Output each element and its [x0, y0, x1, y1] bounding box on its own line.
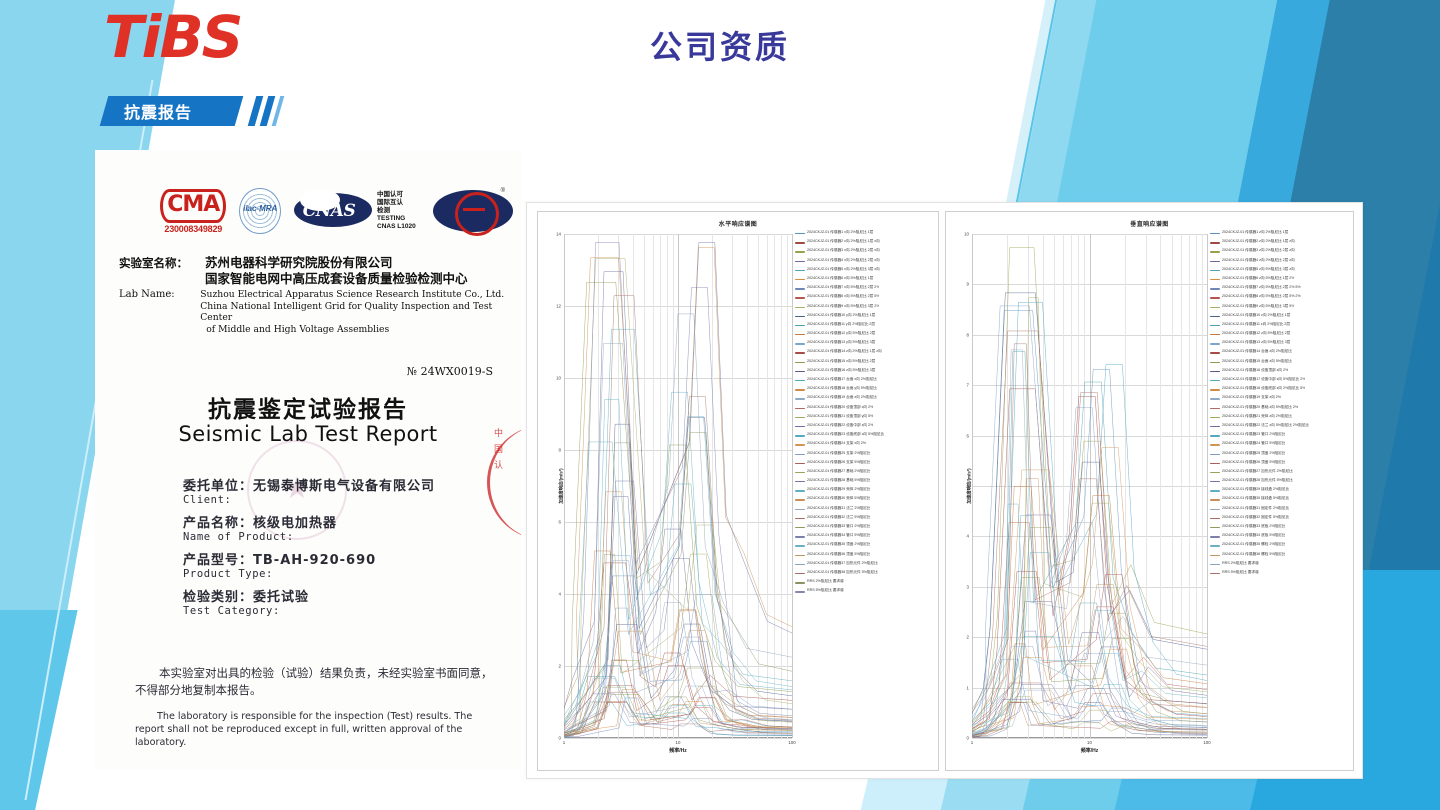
cnas-info-text: 中国认可 国际互认 检测 TESTING CNAS L1020 — [377, 191, 420, 231]
legend-item: 2024CKJZ-01 传感器21 壳体 z向 2%阻尼比 — [1210, 414, 1350, 423]
y-axis-tick: 0 — [559, 736, 561, 741]
field-test-category: 检验类别：委托试验 Test Category: — [183, 586, 503, 617]
response-spectrum-card: 水平响应谱图 02468101214110100 频率/Hz 加速度响应/(m/… — [526, 202, 1363, 779]
legend-item: 2024CKJZ-01 传感器13 z向 5%阻尼比 3层 — [1210, 340, 1350, 349]
y-axis-tick: 6 — [967, 433, 969, 438]
legend-item: RRS 5%阻尼比 要求谱 — [795, 588, 935, 597]
legend-label: 2024CKJZ-01 传感器35 顶盖 2%阻尼比 — [807, 542, 870, 546]
section-tag-label: 抗震报告 — [124, 99, 192, 123]
y-axis-label-horizontal: 加速度响应/(m/s²) — [559, 468, 565, 503]
legend-swatch-icon — [795, 518, 805, 519]
legend-item: 2024CKJZ-01 传感器10 y向 2%阻尼比 1层 — [795, 313, 935, 322]
legend-swatch-icon — [1210, 334, 1220, 335]
lab-name-cn-line-1: 苏州电器科学研究院股份有限公司 — [205, 255, 468, 271]
ilac-label: ilac-MRA — [240, 204, 280, 213]
y-axis-tick: 14 — [556, 232, 561, 237]
legend-swatch-icon — [795, 343, 805, 344]
legend-label: 2024CKJZ-01 传感器20 设备顶部 x向 2% — [807, 405, 873, 409]
legend-label: 2024CKJZ-01 传感器6 z向 5%阻尼比 1层 2% — [1222, 276, 1294, 280]
legend-swatch-icon — [795, 417, 805, 418]
legend-label: 2024CKJZ-01 传感器27 基础 2%阻尼比 — [807, 469, 870, 473]
legend-item: 2024CKJZ-01 传感器1 z向 2%阻尼比 1层 — [1210, 230, 1350, 239]
legend-label: 2024CKJZ-01 传感器23 设备底部 x向 5%阻尼比 — [807, 432, 884, 436]
legend-label: RRS 2%阻尼比 要求谱 — [1222, 561, 1259, 565]
legend-label: 2024CKJZ-01 传感器35 螺栓 2%阻尼比 — [1222, 542, 1285, 546]
legend-item: 2024CKJZ-01 传感器27 基础 2%阻尼比 — [795, 469, 935, 478]
y-axis-tick: 4 — [967, 534, 969, 539]
cma-icon: CMA 230008349829 — [160, 189, 226, 234]
legend-label: RRS 5%阻尼比 要求谱 — [1222, 570, 1259, 574]
legend-item: 2024CKJZ-01 传感器4 z向 2%阻尼比 2层 z向 — [1210, 258, 1350, 267]
x-axis-tick: 1 — [971, 740, 973, 745]
field-client-value: 无锡泰博斯电气设备有限公司 — [253, 479, 435, 494]
legend-label: 2024CKJZ-01 传感器30 壳体 5%阻尼比 — [807, 496, 870, 500]
legend-label: 2024CKJZ-01 传感器31 固定件 2%阻尼比 — [1222, 506, 1289, 510]
ilac-mra-icon: ilac-MRA — [239, 188, 281, 234]
legend-label: RRS 5%阻尼比 要求谱 — [807, 588, 844, 592]
legend-label: 2024CKJZ-01 传感器30 接线盒 5%阻尼比 — [1222, 496, 1289, 500]
legend-label: 2024CKJZ-01 传感器28 加热元件 5%阻尼比 — [1222, 478, 1293, 482]
lab-name-key-en: Lab Name: — [119, 289, 200, 335]
gridline-vertical — [1207, 234, 1208, 738]
legend-label: 2024CKJZ-01 传感器27 加热元件 2%阻尼比 — [1222, 469, 1293, 473]
legend-swatch-icon — [1210, 261, 1220, 262]
wedge-left-bottom — [0, 610, 78, 810]
legend-item: 2024CKJZ-01 传感器17 台面 x向 2%阻尼比 — [795, 377, 935, 386]
y-axis-tick: 2 — [967, 635, 969, 640]
cnas-info-1: 国际互认 — [377, 199, 420, 207]
legend-swatch-icon — [795, 316, 805, 317]
legend-label: 2024CKJZ-01 传感器9 z向 5%阻尼比 3层 5% — [1222, 304, 1294, 308]
legend-item: 2024CKJZ-01 传感器5 z向 5%阻尼比 3层 z向 — [1210, 267, 1350, 276]
legend-item: 2024CKJZ-01 传感器27 加热元件 2%阻尼比 — [1210, 469, 1350, 478]
field-client-key-cn: 委托单位： — [183, 479, 253, 494]
y-axis-tick: 10 — [964, 232, 969, 237]
legend-item: 2024CKJZ-01 传感器17 设备中部 z向 5%阻尼比 2% — [1210, 377, 1350, 386]
legend-item: 2024CKJZ-01 传感器18 设备底部 z向 2%阻尼比 5% — [1210, 386, 1350, 395]
legend-label: 2024CKJZ-01 传感器2 x向 2%阻尼比 1层 x向 — [807, 239, 880, 243]
legend-swatch-icon — [795, 233, 805, 234]
chart-pane-vertical: 垂直响应谱图 012345678910110100 频率/Hz 加速度响应/(m… — [945, 211, 1354, 771]
legend-label: 2024CKJZ-01 传感器22 法兰 z向 5%阻尼比 2%阻尼比 — [1222, 423, 1309, 427]
cnas-label: CNAS — [294, 201, 364, 221]
series-line — [564, 561, 792, 736]
legend-swatch-icon — [795, 463, 805, 464]
legend-swatch-icon — [795, 499, 805, 500]
cnas-info-3: TESTING — [377, 215, 420, 223]
legend-label: 2024CKJZ-01 传感器12 z向 5%阻尼比 2层 — [1222, 331, 1290, 335]
field-product-name-value: 核级电加热器 — [253, 516, 337, 531]
legend-swatch-icon — [1210, 536, 1220, 537]
y-axis-tick: 1 — [967, 685, 969, 690]
legend-item: 2024CKJZ-01 传感器13 y向 5%阻尼比 3层 — [795, 340, 935, 349]
legend-label: 2024CKJZ-01 传感器3 x向 2%阻尼比 2层 x向 — [807, 248, 880, 252]
page-title: 公司资质 — [0, 22, 1440, 68]
legend-swatch-icon — [1210, 481, 1220, 482]
legend-label: 2024CKJZ-01 传感器24 支架 x向 2% — [807, 441, 866, 445]
legend-swatch-icon — [795, 279, 805, 280]
certificate-scan: CMA 230008349829 ilac-MRA CNAS 中国认可 国际互认… — [95, 150, 521, 770]
legend-swatch-icon — [795, 325, 805, 326]
legend-label: 2024CKJZ-01 传感器19 台面 z向 2%阻尼比 — [807, 395, 877, 399]
legend-swatch-icon — [795, 426, 805, 427]
legend-swatch-icon — [795, 564, 805, 565]
legend-item: 2024CKJZ-01 传感器31 固定件 2%阻尼比 — [1210, 506, 1350, 515]
legend-item: RRS 2%阻尼比 要求谱 — [1210, 561, 1350, 570]
field-test-category-cn: 检验类别：委托试验 — [183, 586, 503, 605]
field-product-type-en: Product Type: — [183, 568, 503, 580]
legend-swatch-icon — [1210, 279, 1220, 280]
field-client: 委托单位：无锡泰博斯电气设备有限公司 Client: — [183, 475, 503, 506]
legend-item: 2024CKJZ-01 传感器2 x向 2%阻尼比 1层 x向 — [795, 239, 935, 248]
legend-swatch-icon — [795, 288, 805, 289]
disclaimer-en: The laboratory is responsible for the in… — [135, 710, 495, 749]
legend-swatch-icon — [1210, 343, 1220, 344]
field-product-type: 产品型号：TB-AH-920-690 Product Type: — [183, 549, 503, 580]
legend-swatch-icon — [795, 307, 805, 308]
y-axis-tick: 0 — [967, 736, 969, 741]
legend-item: 2024CKJZ-01 传感器3 x向 2%阻尼比 2层 x向 — [795, 248, 935, 257]
cqc-ring — [455, 192, 499, 236]
legend-swatch-icon — [795, 334, 805, 335]
legend-label: 2024CKJZ-01 传感器2 z向 2%阻尼比 1层 z向 — [1222, 239, 1295, 243]
legend-item: 2024CKJZ-01 传感器11 y向 2%阻尼比 2层 — [795, 322, 935, 331]
legend-item: 2024CKJZ-01 传感器1 x向 2%阻尼比 1层 — [795, 230, 935, 239]
legend-item: 2024CKJZ-01 传感器8 x向 5%阻尼比 2层 5% — [795, 294, 935, 303]
series-line — [564, 492, 792, 735]
accreditation-logo-row: CMA 230008349829 ilac-MRA CNAS 中国认可 国际互认… — [160, 183, 505, 239]
legend-label: 2024CKJZ-01 传感器29 接线盒 2%阻尼比 — [1222, 487, 1289, 491]
legend-swatch-icon — [1210, 233, 1220, 234]
legend-item: 2024CKJZ-01 传感器8 z向 5%阻尼比 2层 5% 2% — [1210, 294, 1350, 303]
legend-item: 2024CKJZ-01 传感器37 加热元件 2%阻尼比 — [795, 561, 935, 570]
cnas-icon: CNAS — [294, 189, 364, 233]
legend-item: 2024CKJZ-01 传感器28 加热元件 5%阻尼比 — [1210, 478, 1350, 487]
field-product-name: 产品名称：核级电加热器 Name of Product: — [183, 512, 503, 543]
legend-label: 2024CKJZ-01 传感器9 x向 5%阻尼比 3层 2% — [807, 304, 879, 308]
gridline — [972, 738, 1207, 739]
legend-item: 2024CKJZ-01 传感器15 z向 5%阻尼比 2层 — [795, 359, 935, 368]
legend-swatch-icon — [795, 242, 805, 243]
legend-item: 2024CKJZ-01 传感器32 固定件 5%阻尼比 — [1210, 515, 1350, 524]
legend-label: 2024CKJZ-01 传感器8 x向 5%阻尼比 2层 5% — [807, 294, 879, 298]
legend-label: 2024CKJZ-01 传感器14 台面 z向 2%阻尼比 — [1222, 349, 1292, 353]
lab-name-block: 实验室名称： 苏州电器科学研究院股份有限公司 国家智能电网中高压成套设备质量检验… — [119, 255, 509, 335]
x-axis-tick: 1 — [563, 740, 565, 745]
series-lines-vertical — [972, 234, 1207, 738]
legend-item: 2024CKJZ-01 传感器33 底板 2%阻尼比 — [1210, 524, 1350, 533]
legend-item: 2024CKJZ-01 传感器28 基础 5%阻尼比 — [795, 478, 935, 487]
field-client-en: Client: — [183, 494, 503, 506]
legend-swatch-icon — [1210, 316, 1220, 317]
legend-item: 2024CKJZ-01 传感器25 支架 2%阻尼比 — [795, 451, 935, 460]
x-axis-tick: 10 — [676, 740, 681, 745]
legend-item: 2024CKJZ-01 传感器12 z向 5%阻尼比 2层 — [1210, 331, 1350, 340]
legend-label: 2024CKJZ-01 传感器17 台面 x向 2%阻尼比 — [807, 377, 877, 381]
legend-item: 2024CKJZ-01 传感器32 法兰 5%阻尼比 — [795, 515, 935, 524]
legend-swatch-icon — [1210, 509, 1220, 510]
legend-swatch-icon — [795, 545, 805, 546]
legend-item: 2024CKJZ-01 传感器14 台面 z向 2%阻尼比 — [1210, 349, 1350, 358]
legend-swatch-icon — [1210, 389, 1220, 390]
legend-swatch-icon — [795, 389, 805, 390]
legend-item: RRS 2%阻尼比 要求谱 — [795, 579, 935, 588]
legend-swatch-icon — [795, 362, 805, 363]
legend-item: 2024CKJZ-01 传感器2 z向 2%阻尼比 1层 z向 — [1210, 239, 1350, 248]
x-axis-label-vertical: 频率/Hz — [972, 747, 1207, 754]
y-axis-tick: 6 — [559, 520, 561, 525]
legend-swatch-icon — [795, 261, 805, 262]
legend-swatch-icon — [795, 509, 805, 510]
legend-label: 2024CKJZ-01 传感器25 顶盖 2%阻尼比 — [1222, 451, 1285, 455]
legend-item: 2024CKJZ-01 传感器36 顶盖 5%阻尼比 — [795, 552, 935, 561]
legend-item: 2024CKJZ-01 传感器16 设备顶部 z向 2% — [1210, 368, 1350, 377]
legend-item: 2024CKJZ-01 传感器34 底板 5%阻尼比 — [1210, 533, 1350, 542]
legend-swatch-icon — [795, 555, 805, 556]
legend-label: 2024CKJZ-01 传感器18 台面 y向 5%阻尼比 — [807, 386, 877, 390]
legend-swatch-icon — [795, 444, 805, 445]
legend-item: 2024CKJZ-01 传感器6 z向 5%阻尼比 1层 2% — [1210, 276, 1350, 285]
legend-label: 2024CKJZ-01 传感器21 壳体 z向 2%阻尼比 — [1222, 414, 1292, 418]
legend-label: 2024CKJZ-01 传感器3 z向 2%阻尼比 2层 z向 — [1222, 248, 1295, 252]
legend-swatch-icon — [795, 591, 805, 592]
cma-label: CMA — [160, 189, 226, 223]
legend-label: 2024CKJZ-01 传感器7 x向 5%阻尼比 2层 2% — [807, 285, 879, 289]
legend-label: 2024CKJZ-01 传感器21 设备顶部 y向 5% — [807, 414, 873, 418]
legend-label: 2024CKJZ-01 传感器1 z向 2%阻尼比 1层 — [1222, 230, 1288, 234]
legend-label: 2024CKJZ-01 传感器16 z向 5%阻尼比 3层 — [807, 368, 875, 372]
lab-name-en-line-2: China National Intelligent Grid for Qual… — [200, 301, 509, 324]
legend-item: 2024CKJZ-01 传感器20 设备顶部 x向 2% — [795, 405, 935, 414]
legend-vertical: 2024CKJZ-01 传感器1 z向 2%阻尼比 1层2024CKJZ-01 … — [1210, 230, 1350, 756]
legend-swatch-icon — [1210, 251, 1220, 252]
legend-swatch-icon — [1210, 490, 1220, 491]
series-line — [564, 481, 792, 735]
legend-item: 2024CKJZ-01 传感器19 台面 z向 2%阻尼比 — [795, 395, 935, 404]
legend-label: 2024CKJZ-01 传感器29 壳体 2%阻尼比 — [807, 487, 870, 491]
legend-swatch-icon — [795, 371, 805, 372]
legend-label: 2024CKJZ-01 传感器13 z向 5%阻尼比 3层 — [1222, 340, 1290, 344]
legend-swatch-icon — [795, 297, 805, 298]
y-axis-tick: 3 — [967, 584, 969, 589]
legend-swatch-icon — [795, 536, 805, 537]
legend-item: 2024CKJZ-01 传感器9 x向 5%阻尼比 3层 2% — [795, 304, 935, 313]
legend-item: 2024CKJZ-01 传感器26 顶盖 5%阻尼比 — [1210, 460, 1350, 469]
legend-swatch-icon — [795, 454, 805, 455]
legend-item: 2024CKJZ-01 传感器30 壳体 5%阻尼比 — [795, 496, 935, 505]
legend-swatch-icon — [795, 481, 805, 482]
legend-item: 2024CKJZ-01 传感器36 螺栓 5%阻尼比 — [1210, 552, 1350, 561]
field-test-category-key-cn: 检验类别： — [183, 590, 253, 605]
legend-swatch-icon — [1210, 426, 1220, 427]
legend-label: 2024CKJZ-01 传感器22 设备中部 z向 2% — [807, 423, 873, 427]
disclaimer-cn: 本实验室对出具的检验（试验）结果负责，未经实验室书面同意，不得部分地复制本报告。 — [135, 665, 495, 699]
series-line — [564, 329, 792, 722]
series-line — [564, 576, 792, 733]
legend-swatch-icon — [795, 408, 805, 409]
legend-swatch-icon — [1210, 518, 1220, 519]
y-axis-tick: 7 — [967, 383, 969, 388]
legend-item: 2024CKJZ-01 传感器22 法兰 z向 5%阻尼比 2%阻尼比 — [1210, 423, 1350, 432]
legend-horizontal: 2024CKJZ-01 传感器1 x向 2%阻尼比 1层2024CKJZ-01 … — [795, 230, 935, 756]
legend-item: 2024CKJZ-01 传感器24 支架 x向 2% — [795, 441, 935, 450]
legend-item: 2024CKJZ-01 传感器12 y向 5%阻尼比 2层 — [795, 331, 935, 340]
series-line — [564, 497, 792, 731]
y-axis-tick: 8 — [967, 332, 969, 337]
x-axis-label-horizontal: 频率/Hz — [564, 747, 792, 754]
legend-swatch-icon — [1210, 527, 1220, 528]
legend-label: 2024CKJZ-01 传感器10 z向 2%阻尼比 1层 — [1222, 313, 1290, 317]
legend-swatch-icon — [1210, 352, 1220, 353]
legend-label: 2024CKJZ-01 传感器18 设备底部 z向 2%阻尼比 5% — [1222, 386, 1305, 390]
legend-item: 2024CKJZ-01 传感器5 x向 2%阻尼比 3层 x向 — [795, 267, 935, 276]
series-line — [972, 448, 1207, 730]
legend-label: 2024CKJZ-01 传感器12 y向 5%阻尼比 2层 — [807, 331, 875, 335]
legend-item: 2024CKJZ-01 传感器30 接线盒 5%阻尼比 — [1210, 496, 1350, 505]
series-line — [564, 416, 792, 723]
legend-label: 2024CKJZ-01 传感器26 支架 5%阻尼比 — [807, 460, 870, 464]
y-axis-tick: 2 — [559, 664, 561, 669]
lab-name-en-line-1: Suzhou Electrical Apparatus Science Rese… — [200, 289, 509, 301]
legend-item: 2024CKJZ-01 传感器3 z向 2%阻尼比 2层 z向 — [1210, 248, 1350, 257]
lab-name-en-line-3: of Middle and High Voltage Assemblies — [200, 324, 509, 336]
field-product-name-key-cn: 产品名称： — [183, 516, 253, 531]
legend-label: 2024CKJZ-01 传感器33 底板 2%阻尼比 — [1222, 524, 1285, 528]
y-axis-tick: 12 — [556, 304, 561, 309]
legend-item: 2024CKJZ-01 传感器29 接线盒 2%阻尼比 — [1210, 487, 1350, 496]
series-lines-horizontal — [564, 234, 792, 738]
legend-item: 2024CKJZ-01 传感器6 x向 5%阻尼比 1层 — [795, 276, 935, 285]
legend-swatch-icon — [1210, 307, 1220, 308]
legend-label: 2024CKJZ-01 传感器5 z向 5%阻尼比 3层 z向 — [1222, 267, 1295, 271]
legend-item: 2024CKJZ-01 传感器23 管口 2%阻尼比 — [1210, 432, 1350, 441]
legend-label: 2024CKJZ-01 传感器4 x向 2%阻尼比 2层 x向 — [807, 258, 880, 262]
legend-swatch-icon — [1210, 435, 1220, 436]
legend-label: 2024CKJZ-01 传感器34 管口 5%阻尼比 — [807, 533, 870, 537]
legend-label: 2024CKJZ-01 传感器8 z向 5%阻尼比 2层 5% 2% — [1222, 294, 1301, 298]
cnas-info-0: 中国认可 — [377, 191, 420, 199]
legend-item: 2024CKJZ-01 传感器18 台面 y向 5%阻尼比 — [795, 386, 935, 395]
cqc-icon: ® — [433, 188, 505, 234]
series-line — [972, 306, 1207, 734]
field-test-category-en: Test Category: — [183, 605, 503, 617]
legend-swatch-icon — [1210, 463, 1220, 464]
cnas-info-4: CNAS L1020 — [377, 223, 420, 231]
x-axis-tick: 10 — [1087, 740, 1092, 745]
legend-swatch-icon — [1210, 454, 1220, 455]
legend-label: 2024CKJZ-01 传感器34 底板 5%阻尼比 — [1222, 533, 1285, 537]
y-axis-tick: 10 — [556, 376, 561, 381]
legend-swatch-icon — [1210, 362, 1220, 363]
series-line — [564, 314, 792, 716]
plot-area-horizontal: 02468101214110100 频率/Hz 加速度响应/(m/s²) — [564, 234, 792, 738]
legend-swatch-icon — [795, 398, 805, 399]
field-product-type-value: TB-AH-920-690 — [253, 553, 376, 568]
legend-swatch-icon — [1210, 242, 1220, 243]
legend-item: 2024CKJZ-01 传感器15 台面 z向 5%阻尼比 — [1210, 359, 1350, 368]
legend-swatch-icon — [1210, 472, 1220, 473]
chart-title-vertical: 垂直响应谱图 — [946, 219, 1353, 228]
legend-label: 2024CKJZ-01 传感器36 螺栓 5%阻尼比 — [1222, 552, 1285, 556]
legend-label: 2024CKJZ-01 传感器17 设备中部 z向 5%阻尼比 2% — [1222, 377, 1305, 381]
legend-label: 2024CKJZ-01 传感器13 y向 5%阻尼比 3层 — [807, 340, 875, 344]
field-client-cn: 委托单位：无锡泰博斯电气设备有限公司 — [183, 475, 503, 494]
field-product-name-en: Name of Product: — [183, 531, 503, 543]
lab-name-key-cn: 实验室名称： — [119, 255, 205, 287]
y-axis-tick: 8 — [559, 448, 561, 453]
legend-label: 2024CKJZ-01 传感器26 顶盖 5%阻尼比 — [1222, 460, 1285, 464]
legend-swatch-icon — [795, 527, 805, 528]
series-line — [564, 258, 792, 728]
legend-item: 2024CKJZ-01 传感器31 法兰 2%阻尼比 — [795, 506, 935, 515]
legend-item: 2024CKJZ-01 传感器35 顶盖 2%阻尼比 — [795, 542, 935, 551]
legend-item: 2024CKJZ-01 传感器23 设备底部 x向 5%阻尼比 — [795, 432, 935, 441]
legend-swatch-icon — [1210, 398, 1220, 399]
legend-item: 2024CKJZ-01 传感器26 支架 5%阻尼比 — [795, 460, 935, 469]
legend-swatch-icon — [1210, 499, 1220, 500]
report-fields: 委托单位：无锡泰博斯电气设备有限公司 Client: 产品名称：核级电加热器 N… — [183, 472, 503, 623]
plot-area-vertical: 012345678910110100 频率/Hz 加速度响应/(m/s²) — [972, 234, 1207, 738]
legend-label: 2024CKJZ-01 传感器32 法兰 5%阻尼比 — [807, 515, 870, 519]
series-line — [972, 298, 1207, 725]
legend-swatch-icon — [795, 380, 805, 381]
legend-swatch-icon — [1210, 408, 1220, 409]
legend-swatch-icon — [795, 472, 805, 473]
cnas-info-2: 检测 — [377, 207, 420, 215]
legend-item: 2024CKJZ-01 传感器10 z向 2%阻尼比 1层 — [1210, 313, 1350, 322]
legend-label: 2024CKJZ-01 传感器36 顶盖 5%阻尼比 — [807, 552, 870, 556]
legend-item: 2024CKJZ-01 传感器16 z向 5%阻尼比 3层 — [795, 368, 935, 377]
legend-label: 2024CKJZ-01 传感器7 z向 5%阻尼比 2层 2% 5% — [1222, 285, 1301, 289]
legend-swatch-icon — [1210, 545, 1220, 546]
legend-label: 2024CKJZ-01 传感器6 x向 5%阻尼比 1层 — [807, 276, 873, 280]
legend-item: 2024CKJZ-01 传感器35 螺栓 2%阻尼比 — [1210, 542, 1350, 551]
legend-label: 2024CKJZ-01 传感器10 y向 2%阻尼比 1层 — [807, 313, 875, 317]
field-product-type-cn: 产品型号：TB-AH-920-690 — [183, 549, 503, 568]
cqc-registered-label: ® — [501, 188, 505, 194]
legend-swatch-icon — [1210, 297, 1220, 298]
chart-title-horizontal: 水平响应谱图 — [538, 219, 938, 228]
legend-item: 2024CKJZ-01 传感器7 x向 5%阻尼比 2层 2% — [795, 285, 935, 294]
legend-item: 2024CKJZ-01 传感器29 壳体 2%阻尼比 — [795, 487, 935, 496]
series-line — [564, 554, 792, 734]
red-seal-char-0: 中 — [494, 425, 521, 441]
legend-label: RRS 2%阻尼比 要求谱 — [807, 579, 844, 583]
legend-swatch-icon — [795, 490, 805, 491]
legend-label: 2024CKJZ-01 传感器15 台面 z向 5%阻尼比 — [1222, 359, 1292, 363]
legend-label: 2024CKJZ-01 传感器31 法兰 2%阻尼比 — [807, 506, 870, 510]
legend-swatch-icon — [795, 352, 805, 353]
legend-item: 2024CKJZ-01 传感器22 设备中部 z向 2% — [795, 423, 935, 432]
y-axis-label-vertical: 加速度响应/(m/s²) — [967, 468, 973, 503]
series-line — [972, 293, 1207, 713]
cma-number: 230008349829 — [160, 224, 226, 234]
legend-label: 2024CKJZ-01 传感器32 固定件 5%阻尼比 — [1222, 515, 1289, 519]
legend-label: 2024CKJZ-01 传感器11 y向 2%阻尼比 2层 — [807, 322, 875, 326]
cqc-bar — [463, 208, 485, 211]
legend-swatch-icon — [795, 270, 805, 271]
legend-item: 2024CKJZ-01 传感器34 管口 5%阻尼比 — [795, 533, 935, 542]
legend-item: 2024CKJZ-01 传感器14 z向 2%阻尼比 1层 z向 — [795, 349, 935, 358]
legend-label: 2024CKJZ-01 传感器14 z向 2%阻尼比 1层 z向 — [807, 349, 882, 353]
legend-label: 2024CKJZ-01 传感器38 加热元件 5%阻尼比 — [807, 570, 878, 574]
legend-swatch-icon — [1210, 555, 1220, 556]
slide-root: TiBS 抗震报告 公司资质 CMA 230008349829 ilac-MRA… — [0, 0, 1440, 810]
red-seal-char-1: 国 — [494, 441, 521, 457]
lab-name-cn-line-2: 国家智能电网中高压成套设备质量检验检测中心 — [205, 271, 468, 287]
y-axis-tick: 4 — [559, 592, 561, 597]
legend-item: 2024CKJZ-01 传感器4 x向 2%阻尼比 2层 x向 — [795, 258, 935, 267]
